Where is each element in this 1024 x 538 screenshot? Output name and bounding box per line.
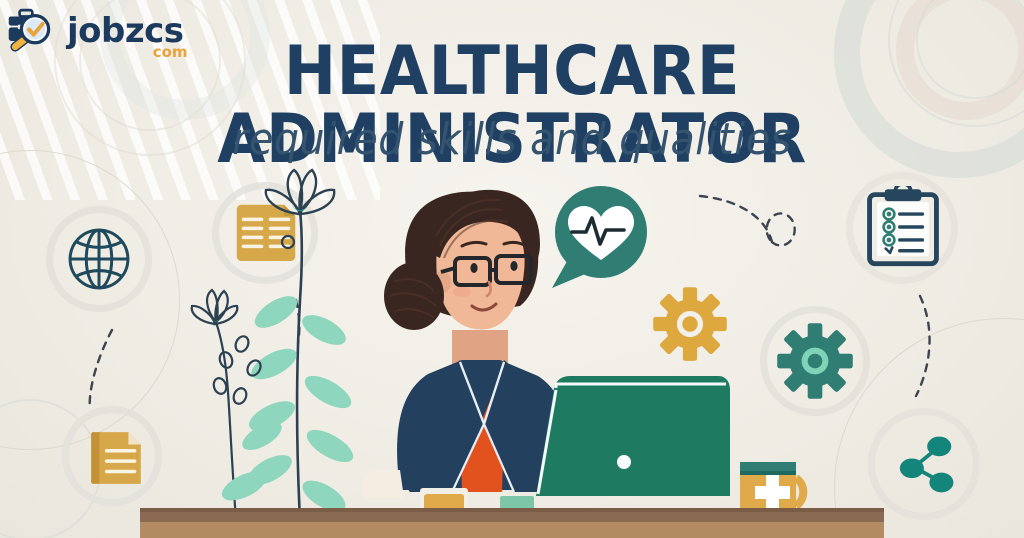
poster-canvas: jobzcs com HEALTHCARE ADMINISTRATOR requ…: [0, 0, 1024, 538]
desk: [140, 508, 884, 538]
healthcare-administrator-at-desk: [0, 0, 1024, 538]
decorative-plants: [192, 170, 358, 520]
person-healthcare-administrator: [362, 190, 569, 498]
laptop: [536, 376, 730, 496]
